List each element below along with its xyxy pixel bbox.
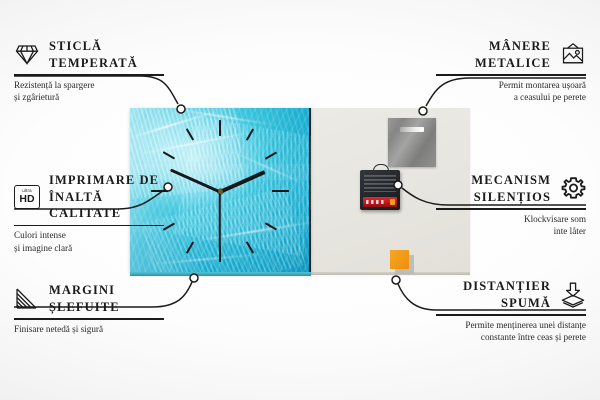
- beveled-edge-icon: [14, 286, 40, 312]
- feature-metal-handles: MÂNERE METALICE Permit montarea ușoară a…: [436, 38, 586, 104]
- mechanism-hook: [373, 164, 389, 173]
- feature-rule: [14, 225, 164, 227]
- feature-polished-edges: MARGINI ȘLEFUITE Finisare netedă și sigu…: [14, 282, 164, 335]
- foam-spacer: [390, 250, 409, 269]
- clock-tick: [272, 190, 289, 192]
- feature-title: STICLĂ TEMPERATĂ: [49, 38, 138, 71]
- mechanism-label-print: [364, 175, 396, 192]
- feature-title: MÂNERE METALICE: [475, 38, 551, 71]
- feature-rule: [436, 74, 586, 76]
- clock-tick: [219, 246, 221, 262]
- feature-title: MECANISM SILENȚIOS: [471, 172, 551, 205]
- product-image: [130, 104, 470, 276]
- feature-rule: [14, 74, 164, 76]
- battery: [363, 197, 397, 207]
- feature-header: STICLĂ TEMPERATĂ: [14, 38, 164, 71]
- feature-title: DISTANȚIER SPUMĂ: [463, 278, 551, 311]
- feature-description: Permite menținerea unei distanțe constan…: [436, 319, 586, 344]
- feature-header: MÂNERE METALICE: [436, 38, 586, 71]
- feature-description: Culori intense și imagine clară: [14, 229, 164, 254]
- clock-second-hand: [219, 191, 221, 247]
- feature-description: Klockvisare som inte låter: [436, 213, 586, 238]
- feature-header: ultra HD IMPRIMARE DE ÎNALTĂ CALITATE: [14, 172, 164, 222]
- feature-header: MARGINI ȘLEFUITE: [14, 282, 164, 315]
- feature-title: MARGINI ȘLEFUITE: [49, 282, 120, 315]
- feature-header: DISTANȚIER SPUMĂ: [436, 278, 586, 311]
- feature-rule: [436, 314, 586, 316]
- feature-description: Rezistență la spargere și zgârietură: [14, 79, 164, 104]
- clock-tick: [219, 120, 221, 136]
- feature-high-quality-print: ultra HD IMPRIMARE DE ÎNALTĂ CALITATE Cu…: [14, 172, 164, 254]
- glass-face-bottom-edge: [130, 272, 311, 276]
- feature-rule: [14, 318, 164, 320]
- feature-description: Finisare netedă și sigură: [14, 323, 164, 336]
- feature-header: MECANISM SILENȚIOS: [436, 172, 586, 205]
- feature-rule: [436, 208, 586, 210]
- ultra-hd-icon: ultra HD: [14, 184, 40, 210]
- quartz-mechanism: [360, 170, 400, 210]
- infographic-canvas: STICLĂ TEMPERATĂ Rezistență la spargere …: [0, 0, 600, 400]
- ultra-hd-icon-main-label: HD: [19, 194, 34, 205]
- feature-tempered-glass: STICLĂ TEMPERATĂ Rezistență la spargere …: [14, 38, 164, 104]
- picture-frame-icon: [560, 42, 586, 68]
- feature-description: Permit montarea ușoară a ceasului pe per…: [436, 79, 586, 104]
- arrow-down-stack-icon: [560, 282, 586, 308]
- clock-center-cap: [218, 189, 223, 194]
- battery-label-print: [366, 200, 386, 204]
- feature-foam-spacer: DISTANȚIER SPUMĂ Permite menținerea unei…: [436, 278, 586, 344]
- metal-hanger-plate: [388, 118, 436, 167]
- feature-silent-mechanism: MECANISM SILENȚIOS Klockvisare som inte …: [436, 172, 586, 238]
- clock-back-panel-edge: [308, 272, 470, 275]
- feature-title: IMPRIMARE DE ÎNALTĂ CALITATE: [49, 172, 164, 222]
- diamond-icon: [14, 42, 40, 68]
- gear-icon: [560, 176, 586, 202]
